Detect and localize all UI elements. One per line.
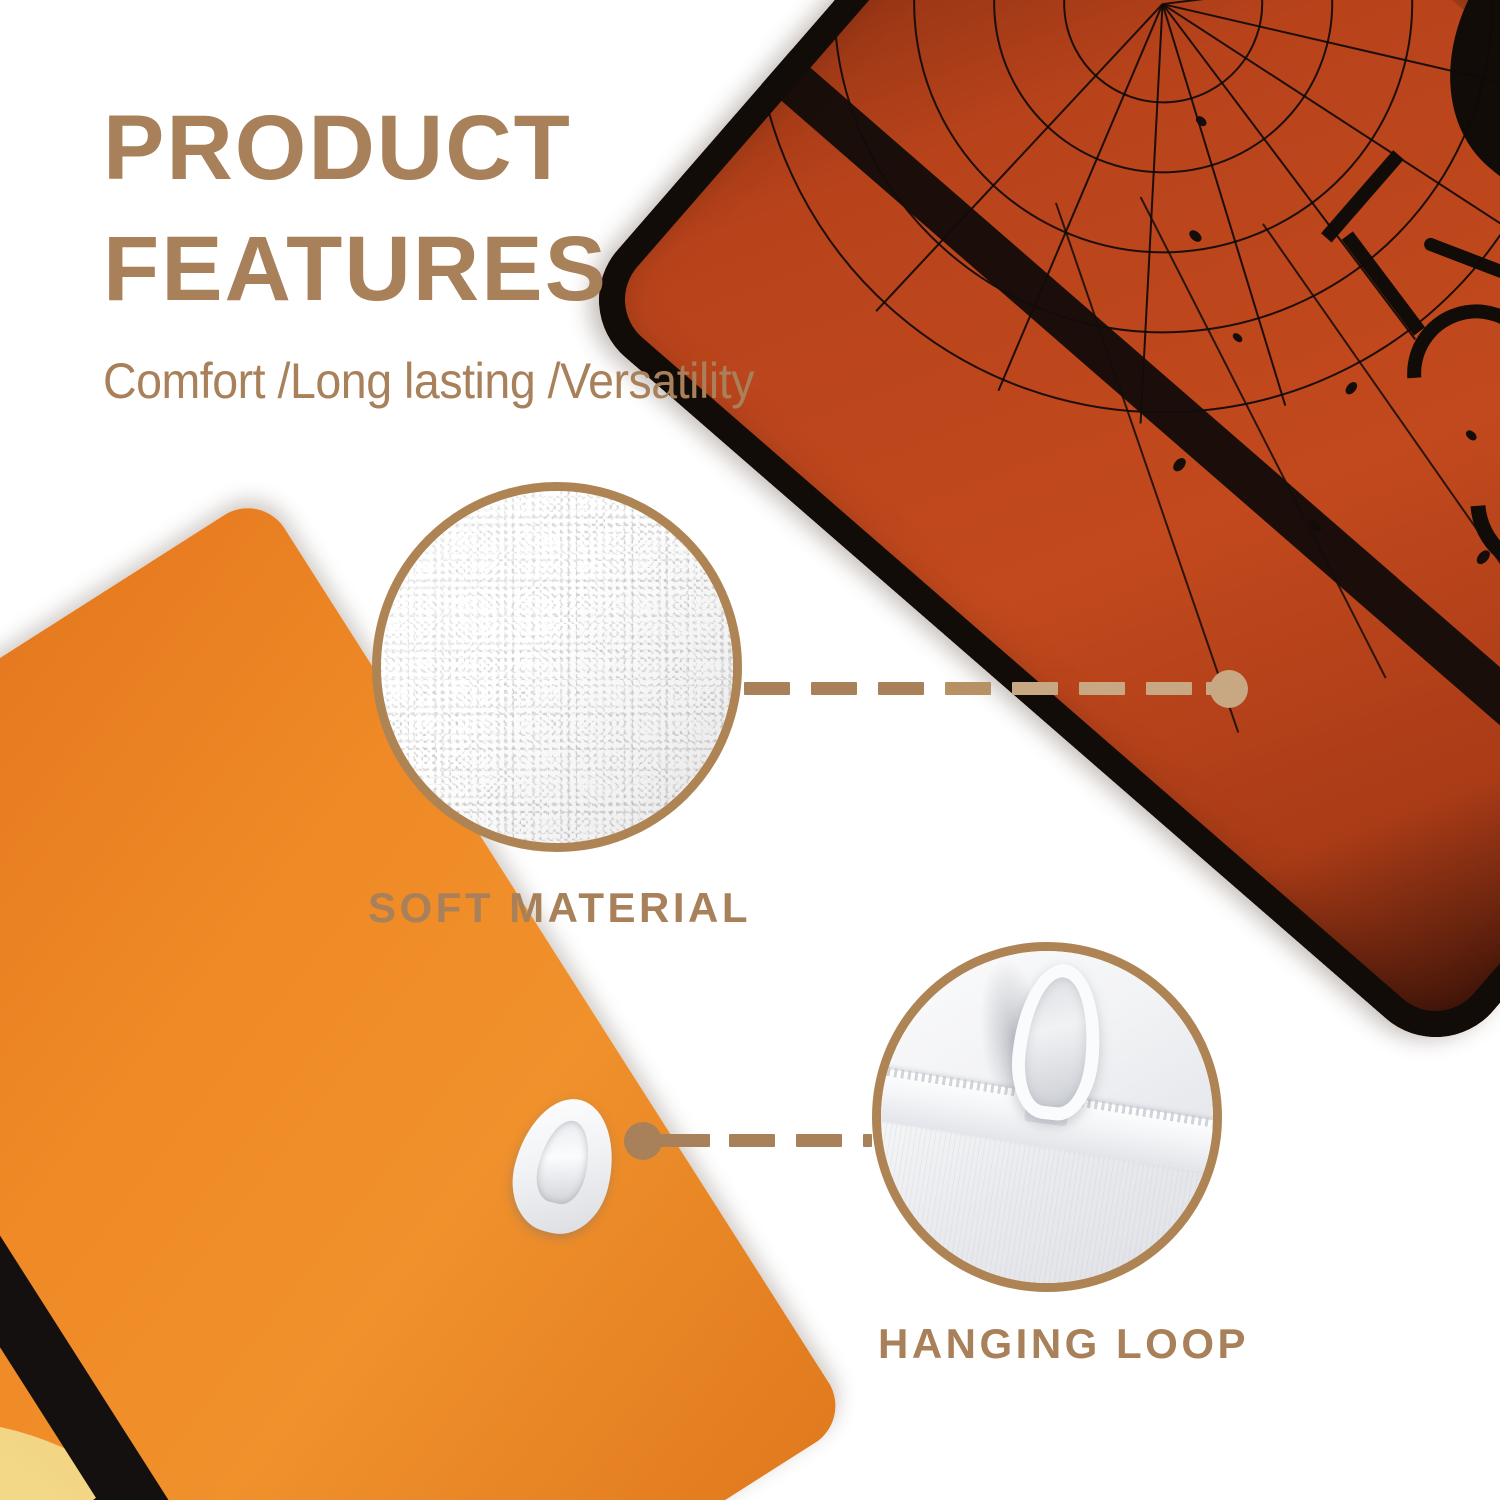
moon-crater [0, 1470, 31, 1500]
terry-sheen [381, 491, 733, 843]
callout-hanging-loop [872, 942, 1222, 1292]
page-title-line-2: FEATURES [103, 209, 863, 330]
caption-hanging-loop: HANGING LOOP [878, 1320, 1249, 1368]
dash [729, 1134, 775, 1147]
caption-soft-material: SOFT MATERIAL [368, 884, 751, 932]
dash [648, 1134, 710, 1147]
dash [744, 682, 790, 695]
dash [945, 682, 991, 695]
connector-endpoint-dot [1210, 670, 1248, 708]
page-title: PRODUCT FEATURES [103, 88, 863, 331]
dash [1079, 682, 1125, 695]
hanging-loop-photo [881, 951, 1213, 1283]
dash [811, 682, 857, 695]
dash [1146, 682, 1192, 695]
dash [796, 1134, 842, 1147]
dash [863, 1134, 872, 1147]
page-subtitle: Comfort /Long lasting /Versatility [103, 352, 754, 410]
dash [878, 682, 924, 695]
connector-hanging-loop [624, 1134, 886, 1147]
page-title-line-1: PRODUCT [103, 88, 863, 209]
connector-soft-material [744, 682, 1244, 695]
soft-material-photo [381, 491, 733, 843]
dash [1012, 682, 1058, 695]
callout-soft-material [372, 482, 742, 852]
infographic-canvas: SOFT MATERIAL HANGING LOOP PRODUCT FEATU… [0, 0, 1500, 1500]
